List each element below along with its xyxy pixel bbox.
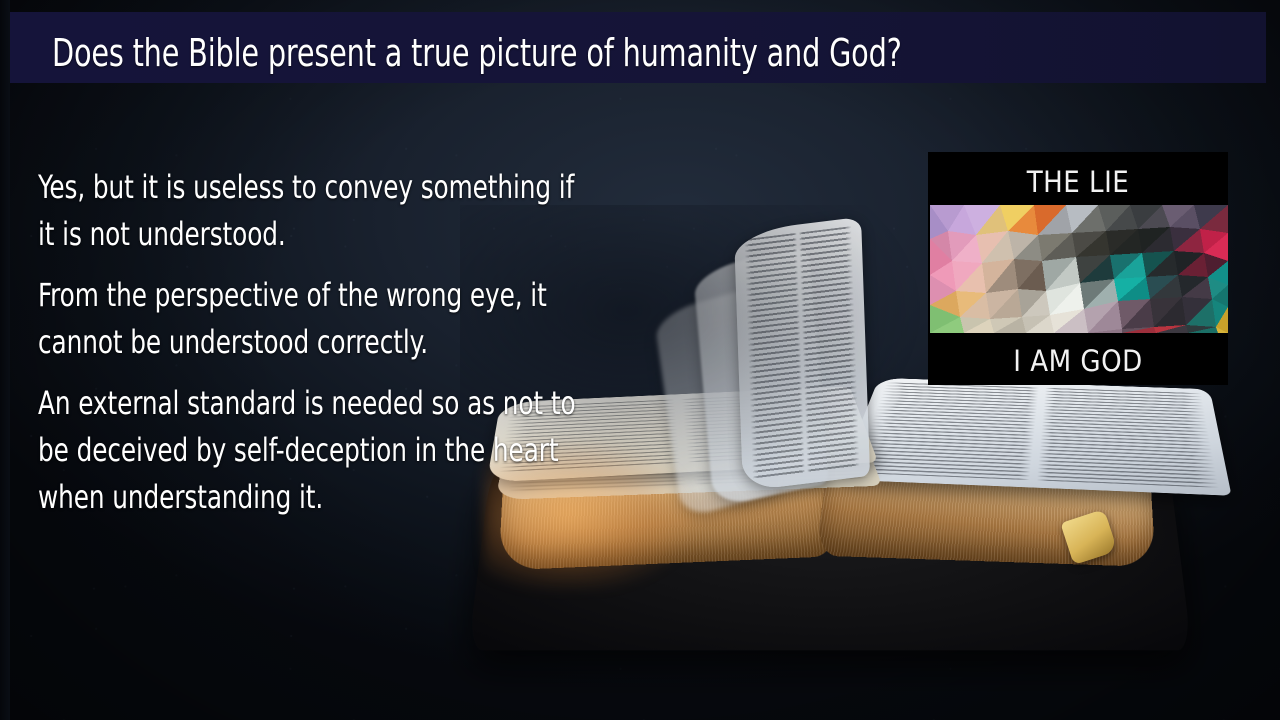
body-paragraph-2: From the perspective of the wrong eye, i… [38,272,597,366]
bible-page-right [838,378,1231,496]
slide-left-edge [0,0,10,720]
presentation-slide: Does the Bible present a true picture of… [0,0,1280,720]
low-poly-eye-image [930,205,1228,333]
low-poly-eye-svg [930,205,1228,333]
bible-text-lines-fanned [744,226,860,480]
bible-text-lines-right [852,382,1219,488]
the-lie-panel: THE LIE [928,152,1228,385]
bible-fanned-page-1 [734,217,870,491]
body-paragraph-3: An external standard is needed so as not… [38,380,597,521]
body-text-block: Yes, but it is useless to convey somethi… [38,164,598,521]
the-lie-top-caption: THE LIE [928,165,1228,199]
title-band: Does the Bible present a true picture of… [10,12,1266,83]
the-lie-bottom-caption: I AM GOD [928,344,1228,378]
page-title: Does the Bible present a true picture of… [52,31,1043,75]
body-paragraph-1: Yes, but it is useless to convey somethi… [38,164,597,258]
